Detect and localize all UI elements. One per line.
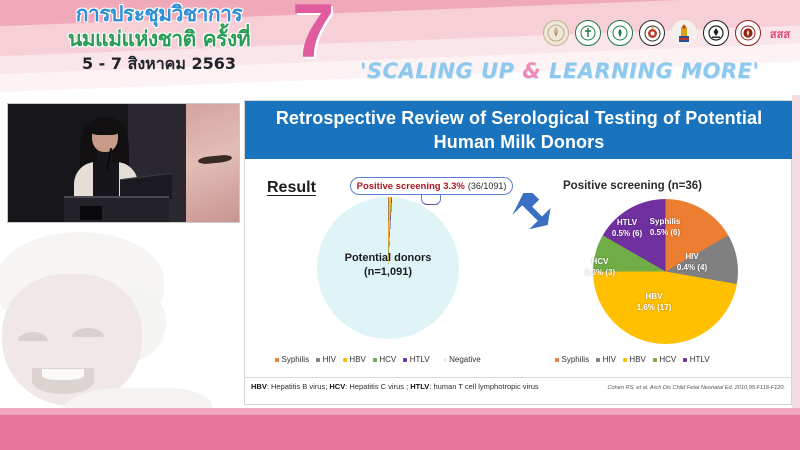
legend-label-hbv: HBV	[349, 355, 365, 364]
royal-seal-icon	[547, 24, 565, 42]
logo-royal-seal	[542, 20, 570, 46]
legend-swatch-hiv	[316, 358, 320, 362]
legend2-swatch-hiv	[596, 358, 600, 362]
slide-footnote: HBV: Hepatitis B virus; HCV: Hepatitis C…	[245, 377, 793, 406]
health-ministry-icon	[612, 25, 628, 41]
callout-pointer-stem	[421, 194, 441, 205]
public-health-icon	[708, 25, 724, 41]
tagline-part-2: LEARNING MORE'	[541, 59, 759, 83]
legend-swatch-hcv	[373, 358, 377, 362]
right-edge-decoration	[792, 95, 800, 408]
legend-swatch-syphilis	[275, 358, 279, 362]
speaker-presentation-video[interactable]	[7, 103, 240, 223]
presentation-slide: Retrospective Review of Serological Test…	[244, 100, 792, 405]
legend-label-negative: Negative	[449, 355, 481, 364]
slide-title-bar: Retrospective Review of Serological Test…	[245, 101, 793, 159]
potential-donors-label-line2: (n=1,091)	[317, 265, 459, 279]
thai-title-line-2: นมแม่แห่งชาติ ครั้งที่	[14, 27, 304, 52]
logo-health-ministry	[606, 20, 634, 46]
logo-thai-pediatric	[734, 20, 762, 46]
legend-label-syphilis: Syphilis	[282, 355, 310, 364]
legend-item-negative: Negative	[443, 355, 481, 364]
legend2-swatch-htlv	[683, 358, 687, 362]
potential-donors-pie-label: Potential donors (n=1,091)	[317, 251, 459, 279]
pie-slice-label-hcv: HCV 0.3% (3)	[578, 256, 622, 278]
baby-teeth	[42, 369, 84, 380]
royal-college-icon	[675, 23, 693, 43]
blue-down-right-arrow	[507, 193, 553, 237]
logo-nursing-council	[574, 20, 602, 46]
legend-item-hbv: HBV	[343, 355, 366, 364]
pie-slice-label-hiv: HIV 0.4% (4)	[669, 251, 715, 273]
legend-swatch-htlv	[403, 358, 407, 362]
tagline-ampersand: &	[522, 59, 541, 83]
footnote-hbv-def: : Hepatitis B virus;	[267, 382, 330, 391]
legend2-label-hcv: HCV	[659, 355, 676, 364]
legend2-label-hbv: HBV	[629, 355, 645, 364]
legend2-label-syphilis: Syphilis	[562, 355, 590, 364]
legend-item-htlv: HTLV	[403, 355, 429, 364]
legend2-swatch-syphilis	[555, 358, 559, 362]
thai-conference-title: การประชุมวิชาการ นมแม่แห่งชาติ ครั้งที่ …	[14, 2, 304, 75]
slice-value-hbv: 1.6% (17)	[623, 302, 685, 313]
abbreviation-key: HBV: Hepatitis B virus; HCV: Hepatitis C…	[251, 382, 539, 392]
callout-main-text: Positive screening 3.3%	[357, 181, 465, 192]
medical-association-icon	[644, 25, 661, 42]
footnote-hcv-def: : Hepatitis C virus ;	[345, 382, 410, 391]
sponsor-logo-row: สสส	[542, 20, 794, 46]
conference-date: 5 - 7 สิงหาคม 2563	[14, 53, 304, 75]
result-heading: Result	[267, 179, 316, 197]
slice-name-hiv: HIV	[669, 251, 715, 262]
nursing-council-icon	[580, 25, 596, 41]
logo-public-health	[702, 20, 730, 46]
legend2-swatch-hbv	[623, 358, 627, 362]
slice-value-hcv: 0.3% (3)	[578, 267, 622, 278]
legend2-label-hiv: HIV	[603, 355, 616, 364]
baby-watermark-photo	[0, 228, 240, 438]
positive-screening-callout: Positive screening 3.3% (36/1091)	[350, 177, 513, 195]
pie-slice-label-htlv: HTLV 0.5% (6)	[603, 217, 651, 239]
legend-item-syphilis: Syphilis	[275, 355, 309, 364]
slice-value-htlv: 0.5% (6)	[603, 228, 651, 239]
legend-positive-screening: Syphilis HIV HBV HCV HTLV	[555, 355, 710, 364]
thai-title-line-1: การประชุมวิชาการ	[14, 2, 304, 27]
legend2-item-hcv: HCV	[653, 355, 676, 364]
bottom-pink-bar	[0, 408, 800, 450]
legend-item-hcv: HCV	[373, 355, 396, 364]
speaker-hair-top	[89, 117, 121, 135]
thai-pediatric-icon	[740, 25, 756, 41]
footnote-htlv-key: HTLV	[410, 382, 429, 391]
edition-number: 7	[292, 0, 334, 70]
legend2-label-htlv: HTLV	[690, 355, 710, 364]
footnote-htlv-def: : human T cell lymphotropic virus	[429, 382, 538, 391]
logo-royal-college	[670, 20, 698, 46]
footnote-hcv-key: HCV	[329, 382, 345, 391]
footnote-hbv-key: HBV	[251, 382, 267, 391]
logo-medical-association	[638, 20, 666, 46]
potential-donors-label-line1: Potential donors	[317, 251, 459, 265]
legend-potential-donors: Syphilis HIV HBV HCV HTLV Negative	[275, 355, 481, 364]
slide-citation: Cohen RS, et al. Arch Dis Child Fetal Ne…	[607, 382, 785, 393]
legend2-swatch-hcv	[653, 358, 657, 362]
conference-tagline: 'SCALING UP & LEARNING MORE'	[360, 58, 790, 84]
callout-sub-text: (36/1091)	[468, 181, 507, 191]
legend2-item-syphilis: Syphilis	[555, 355, 589, 364]
logo-thaihealth-sss: สสส	[766, 22, 794, 46]
event-header-banner: การประชุมวิชาการ นมแม่แห่งชาติ ครั้งที่ …	[0, 0, 800, 95]
video-projected-face	[186, 104, 240, 223]
legend-swatch-negative	[443, 358, 447, 362]
pie-slice-label-hbv: HBV 1.6% (17)	[623, 291, 685, 313]
legend2-item-hbv: HBV	[623, 355, 646, 364]
bottom-bar-highlight	[0, 408, 800, 415]
legend-swatch-hbv	[343, 358, 347, 362]
podium-plate	[80, 206, 102, 220]
legend-label-htlv: HTLV	[410, 355, 430, 364]
tagline-part-1: 'SCALING UP	[360, 59, 522, 83]
legend2-item-htlv: HTLV	[683, 355, 709, 364]
slice-name-htlv: HTLV	[603, 217, 651, 228]
legend-label-hiv: HIV	[323, 355, 336, 364]
legend2-item-hiv: HIV	[596, 355, 616, 364]
legend-item-hiv: HIV	[316, 355, 336, 364]
slice-name-hbv: HBV	[623, 291, 685, 302]
thaihealth-sss-text: สสส	[765, 22, 795, 46]
positive-screening-pie-title: Positive screening (n=36)	[563, 180, 788, 192]
legend-label-hcv: HCV	[379, 355, 396, 364]
slice-name-hcv: HCV	[578, 256, 622, 267]
slice-value-hiv: 0.4% (4)	[669, 262, 715, 273]
slide-title: Retrospective Review of Serological Test…	[245, 106, 793, 154]
